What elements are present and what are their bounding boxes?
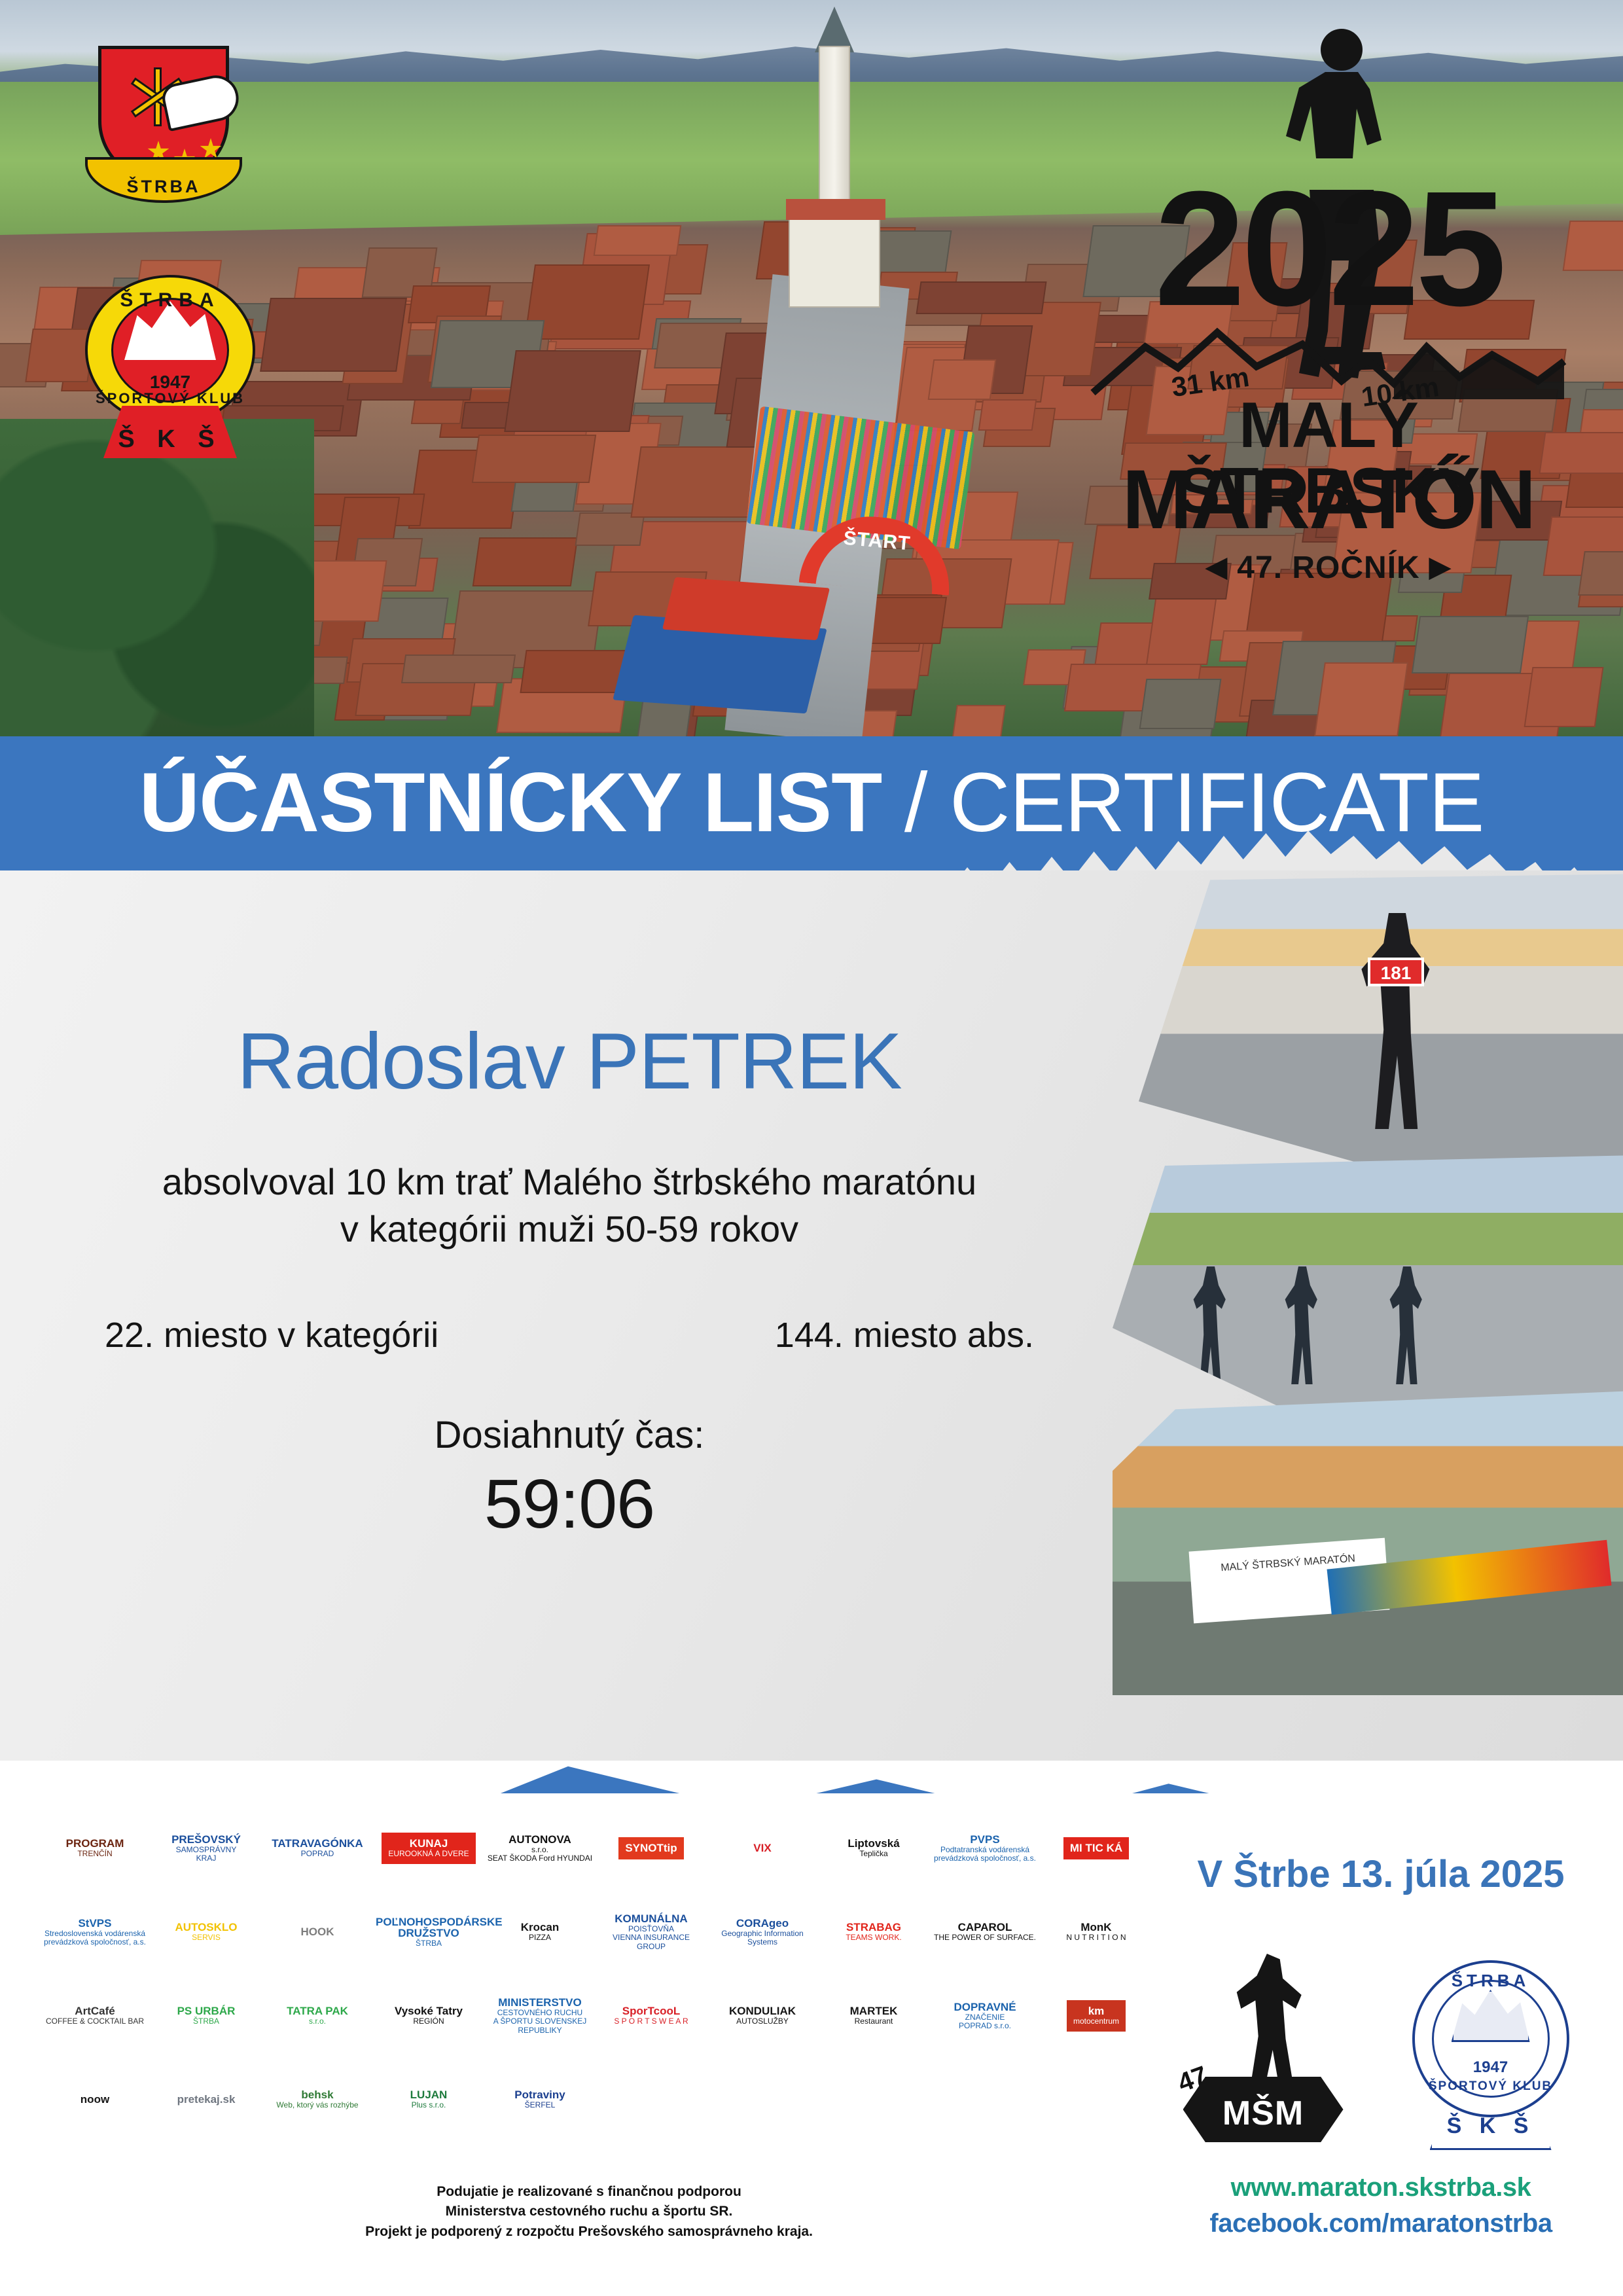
sponsor-logo: pretekaj.sk bbox=[151, 2058, 262, 2142]
sponsor-logo-text: N U T R I T I O N bbox=[1066, 1933, 1126, 1942]
sponsor-logo: MINISTERSTVOCESTOVNÉHO RUCHUA ŠPORTU SLO… bbox=[484, 1974, 596, 2058]
arrow-right-icon: ▶ bbox=[1429, 551, 1451, 582]
sponsor-logo-text: prevádzková spoločnosť, a.s. bbox=[934, 1854, 1036, 1863]
photo-runners-road bbox=[1113, 1155, 1623, 1417]
event-edition: ◀ 47. ROČNÍK ▶ bbox=[1080, 550, 1577, 586]
sponsor-logo-text: s.r.o. bbox=[287, 2017, 348, 2026]
sponsor-logo-text: Web, ktorý vás rozhýbe bbox=[276, 2101, 358, 2109]
sponsor-logo-text: Vysoké Tatry bbox=[395, 2005, 463, 2017]
sponsor-logo-text: MINISTERSTVO bbox=[487, 1997, 593, 2009]
sponsor-logo-text: CORAgeo bbox=[709, 1918, 815, 1929]
sponsor-logo: POĽNOHOSPODÁRSKE DRUŽSTVOŠTRBA bbox=[373, 1890, 484, 1974]
website-link[interactable]: www.maraton.skstrba.sk bbox=[1152, 2173, 1610, 2202]
club-base-shape: Š K Š bbox=[103, 406, 237, 458]
finish-time-block: Dosiahnutý čas: 59:06 bbox=[0, 1413, 1139, 1544]
sponsor-logo-text: ArtCafé bbox=[46, 2005, 144, 2017]
club-bottom-label: ŠPORTOVÝ KLUB bbox=[85, 390, 255, 407]
event-year: 2025 bbox=[1080, 167, 1577, 331]
banner-title: ÚČASTNÍCKY LIST / CERTIFICATE bbox=[0, 761, 1623, 845]
msm-mark: 47. MŠM bbox=[1177, 1954, 1347, 2150]
strba-coat-of-arms: ŠTRBA bbox=[85, 46, 242, 242]
description-line-1: absolvoval 10 km trať Malého štrbského m… bbox=[0, 1158, 1139, 1206]
runner-silhouette bbox=[1283, 1266, 1322, 1384]
sponsor-logo-text: PS URBÁR bbox=[177, 2005, 236, 2017]
participant-name: Radoslav PETREK bbox=[0, 1021, 1139, 1101]
sponsor-logo-text: TEAMS WORK. bbox=[846, 1933, 901, 1942]
sponsor-logo-text: EUROOKNÁ A DVERE bbox=[388, 1850, 469, 1858]
msm-acronym-label: MŠM bbox=[1183, 2094, 1344, 2133]
sponsor-logo-text: VIX bbox=[753, 1842, 771, 1854]
sponsor-logo: MonKN U T R I T I O N bbox=[1041, 1890, 1152, 1974]
sponsor-logo: ArtCaféCOFFEE & COCKTAIL BAR bbox=[39, 1974, 151, 2058]
sponsor-logo-text: MARTEK bbox=[850, 2005, 898, 2017]
sponsor-logo: CORAgeoGeographic Information Systems bbox=[707, 1890, 818, 1974]
banner-title-sk: ÚČASTNÍCKY LIST bbox=[139, 756, 882, 850]
msm-diamond-shape: MŠM bbox=[1183, 2077, 1344, 2142]
sponsor-logo-text: THE POWER OF SURFACE. bbox=[934, 1933, 1036, 1942]
sponsor-logo-text: PIZZA bbox=[521, 1933, 560, 1942]
disclaimer-line-2: Ministerstva cestovného ruchu a športu S… bbox=[39, 2202, 1139, 2221]
sponsor-logo-text: CAPAROL bbox=[934, 1922, 1036, 1933]
sponsor-logo-text: prevádzková spoločnosť, a.s. bbox=[44, 1938, 146, 1946]
placement-row: 22. miesto v kategórii 144. miesto abs. bbox=[0, 1315, 1139, 1355]
sponsor-logo-text: HOOK bbox=[301, 1926, 334, 1938]
sponsor-logo-text: Liptovská bbox=[847, 1838, 899, 1850]
sponsor-logo-text: COFFEE & COCKTAIL BAR bbox=[46, 2017, 144, 2026]
runner-silhouette bbox=[1191, 1266, 1230, 1384]
sponsor-logo-text: A ŠPORTU SLOVENSKEJ REPUBLIKY bbox=[487, 2017, 593, 2034]
sponsor-logo: LiptovskáTeplička bbox=[818, 1806, 929, 1890]
place-absolute: 144. miesto abs. bbox=[775, 1315, 1034, 1355]
event-date: V Štrbe 13. júla 2025 bbox=[1152, 1852, 1610, 1896]
sponsor-logo-text: ŠTRBA bbox=[177, 2017, 236, 2026]
sponsor-logo: PotravinyŠERFEL bbox=[484, 2058, 596, 2142]
trees bbox=[0, 419, 314, 736]
sponsor-logo-text: PVPS bbox=[934, 1834, 1036, 1846]
sponsor-logo-text: behsk bbox=[276, 2089, 358, 2101]
sponsor-logo: KOMUNÁLNAPOISŤOVŇAVIENNA INSURANCE GROUP bbox=[596, 1890, 707, 1974]
sponsor-logo: StVPSStredoslovenská vodárenskáprevádzko… bbox=[39, 1890, 151, 1974]
certificate-page: ŠTART ŠTRBA ŠTRBA 1947 ŠPORTOVÝ KLUB Š K… bbox=[0, 0, 1623, 2296]
funding-disclaimer: Podujatie je realizované s finančnou pod… bbox=[39, 2182, 1139, 2242]
sponsor-logo-text: km bbox=[1073, 2005, 1119, 2017]
footer-right-column: V Štrbe 13. júla 2025 47. MŠM ŠTRBA 1947… bbox=[1152, 1806, 1610, 2291]
certificate-text-block: Radoslav PETREK absolvoval 10 km trať Ma… bbox=[0, 1021, 1139, 1544]
sponsor-logo-text: pretekaj.sk bbox=[177, 2094, 236, 2106]
sponsor-logo: behskWeb, ktorý vás rozhýbe bbox=[262, 2058, 373, 2142]
sponsor-logo-text: TRENČÍN bbox=[66, 1850, 124, 1858]
description-line-2: v kategórii muži 50-59 rokov bbox=[0, 1206, 1139, 1253]
banner-title-en: CERTIFICATE bbox=[950, 756, 1484, 850]
sponsor-logo: HOOK bbox=[262, 1890, 373, 1974]
sponsor-logo-text: Podtatranská vodárenská bbox=[934, 1846, 1036, 1854]
sponsor-logo-text: motocentrum bbox=[1073, 2017, 1119, 2026]
finish-time-label: Dosiahnutý čas: bbox=[0, 1413, 1139, 1457]
sponsor-logo-text: TATRAVAGÓNKA bbox=[272, 1838, 363, 1850]
certificate-description: absolvoval 10 km trať Malého štrbského m… bbox=[0, 1158, 1139, 1252]
sponsor-logo-text: Teplička bbox=[847, 1850, 899, 1858]
sponsor-logo: LUJANPlus s.r.o. bbox=[373, 2058, 484, 2142]
sponsor-logo-text: SporTcooL bbox=[614, 2005, 688, 2017]
club-base-label: Š K Š bbox=[103, 425, 237, 454]
finish-time-value: 59:06 bbox=[0, 1465, 1139, 1544]
event-logo: 2025 31 km 10 km MALÝ ŠTRBSKÝ MARATÓN ◀ … bbox=[1080, 26, 1577, 602]
sponsor-logo: KUNAJEUROOKNÁ A DVERE bbox=[373, 1806, 484, 1890]
sponsor-logo-text: PREŠOVSKÝ bbox=[171, 1834, 241, 1846]
sponsor-logo-text: SERVIS bbox=[175, 1933, 237, 1942]
sponsor-logo: kmmotocentrum bbox=[1041, 1974, 1152, 2058]
disclaimer-line-3: Projekt je podporený z rozpočtu Prešovsk… bbox=[39, 2222, 1139, 2242]
disclaimer-line-1: Podujatie je realizované s finančnou pod… bbox=[39, 2182, 1139, 2202]
sponsor-logo-text: AUTOSLUŽBY bbox=[729, 2017, 796, 2026]
sponsor-logo-text: Krocan bbox=[521, 1922, 560, 1933]
sponsor-logo-text: KONDULIAK bbox=[729, 2005, 796, 2017]
sponsor-logo-text: Potraviny bbox=[514, 2089, 565, 2101]
sponsor-logo: MI TIC KÁ bbox=[1041, 1806, 1152, 1890]
sponsor-logo-text: noow bbox=[80, 2094, 109, 2106]
sks-club-logo: ŠTRBA 1947 ŠPORTOVÝ KLUB Š K Š bbox=[85, 262, 255, 458]
sponsor-logo: TATRAVAGÓNKAPOPRAD bbox=[262, 1806, 373, 1890]
coa-municipality-label: ŠTRBA bbox=[88, 177, 240, 197]
sponsor-logo: KONDULIAKAUTOSLUŽBY bbox=[707, 1974, 818, 2058]
sponsor-logo-text: ZNAČENIE bbox=[954, 2013, 1016, 2022]
coa-ribbon: ŠTRBA bbox=[85, 157, 242, 203]
sponsor-logo-text: SAMOSPRÁVNY bbox=[171, 1846, 241, 1854]
woman-runner-silhouette bbox=[1355, 913, 1440, 1129]
sponsor-logo-text: STRABAG bbox=[846, 1922, 901, 1933]
stamp-bottom-label: ŠPORTOVÝ KLUB bbox=[1396, 2079, 1586, 2094]
sponsor-logo-text: KOMUNÁLNA bbox=[598, 1913, 704, 1925]
photo-finish-line: MALÝ ŠTRBSKÝ MARATÓN bbox=[1113, 1391, 1623, 1695]
sponsor-logo: Vysoké TatryREGIÓN bbox=[373, 1974, 484, 2058]
sponsor-logo-text: ŠERFEL bbox=[514, 2101, 565, 2109]
banner-title-separator: / bbox=[882, 756, 950, 850]
sponsor-logo: SporTcooLS P O R T S W E A R bbox=[596, 1974, 707, 2058]
sponsor-logo-text: PROGRAM bbox=[66, 1838, 124, 1850]
sponsor-logo: PROGRAMTRENČÍN bbox=[39, 1806, 151, 1890]
sponsor-logo-text: VIENNA INSURANCE GROUP bbox=[598, 1933, 704, 1950]
sponsor-logo: PREŠOVSKÝSAMOSPRÁVNYKRAJ bbox=[151, 1806, 262, 1890]
sponsor-logo-text: MI TIC KÁ bbox=[1070, 1842, 1122, 1854]
sponsor-logo-text: TATRA PAK bbox=[287, 2005, 348, 2017]
sponsor-logo-text: SYNOTtip bbox=[625, 1842, 677, 1854]
stamp-year-label: 1947 bbox=[1396, 2058, 1586, 2077]
sponsor-logo: VIX bbox=[707, 1806, 818, 1890]
sponsor-logo: AUTOSKLOSERVIS bbox=[151, 1890, 262, 1974]
sponsor-logo: PVPSPodtatranská vodárenskáprevádzková s… bbox=[929, 1806, 1041, 1890]
sponsor-logo-text: POPRAD bbox=[272, 1850, 363, 1858]
sponsor-logo-text: Restaurant bbox=[850, 2017, 898, 2026]
photo-collage: 181 MALÝ ŠTRBSKÝ MARATÓN bbox=[1113, 874, 1623, 1695]
runner-silhouette bbox=[1387, 1266, 1427, 1384]
sponsor-logo-text: S P O R T S W E A R bbox=[614, 2017, 688, 2026]
sponsor-logo: TATRA PAKs.r.o. bbox=[262, 1974, 373, 2058]
red-tent bbox=[662, 577, 830, 641]
bib-number-181: 181 bbox=[1368, 958, 1424, 986]
photo-finisher-woman: 181 bbox=[1139, 874, 1623, 1181]
facebook-link[interactable]: facebook.com/maratonstrba bbox=[1152, 2209, 1610, 2238]
sponsor-logo: STRABAGTEAMS WORK. bbox=[818, 1890, 929, 1974]
sponsor-logo-text: POĽNOHOSPODÁRSKE DRUŽSTVO bbox=[376, 1916, 482, 1940]
church-nave bbox=[789, 216, 880, 308]
sponsor-logo: KrocanPIZZA bbox=[484, 1890, 596, 1974]
sponsor-logo: DOPRAVNÉZNAČENIEPOPRAD s.r.o. bbox=[929, 1974, 1041, 2058]
sponsor-logo: noow bbox=[39, 2058, 151, 2142]
sponsor-logo-text: Stredoslovenská vodárenská bbox=[44, 1929, 146, 1938]
sks-stamp-mark: ŠTRBA 1947 ŠPORTOVÝ KLUB Š K Š bbox=[1396, 1954, 1586, 2150]
sponsor-logo-text: KRAJ bbox=[171, 1854, 241, 1863]
event-edition-label: 47. ROČNÍK bbox=[1237, 550, 1419, 585]
sponsor-logo-text: AUTOSKLO bbox=[175, 1922, 237, 1933]
church-building bbox=[795, 20, 874, 301]
arrow-left-icon: ◀ bbox=[1206, 551, 1228, 582]
sponsor-logo-text: MonK bbox=[1066, 1922, 1126, 1933]
sponsor-logo-text: ŠTRBA bbox=[376, 1939, 482, 1948]
sponsor-logo-text: SEAT ŠKODA Ford HYUNDAI bbox=[488, 1854, 592, 1863]
sponsor-logo-text: StVPS bbox=[44, 1918, 146, 1929]
sponsor-logo-text: DOPRAVNÉ bbox=[954, 2001, 1016, 2013]
sponsor-logo-text: LUJAN bbox=[410, 2089, 448, 2101]
sponsor-logo: SYNOTtip bbox=[596, 1806, 707, 1890]
sponsor-logo-text: KUNAJ bbox=[388, 1838, 469, 1850]
place-in-category: 22. miesto v kategórii bbox=[105, 1315, 438, 1355]
club-top-label: ŠTRBA bbox=[85, 289, 255, 312]
sponsor-logo-text: s.r.o. bbox=[488, 1846, 592, 1854]
stamp-top-label: ŠTRBA bbox=[1396, 1971, 1586, 1991]
sponsor-logo: CAPAROLTHE POWER OF SURFACE. bbox=[929, 1890, 1041, 1974]
sponsor-logo-text: AUTONOVA bbox=[488, 1834, 592, 1846]
sponsor-logo: MARTEKRestaurant bbox=[818, 1974, 929, 2058]
sponsor-logo-text: POPRAD s.r.o. bbox=[954, 2022, 1016, 2030]
event-title-line2: MARATÓN bbox=[1080, 458, 1577, 542]
sponsor-logo-text: REGIÓN bbox=[395, 2017, 463, 2026]
runner-mark-icon bbox=[1236, 1954, 1308, 2091]
sponsor-logo: AUTONOVAs.r.o.SEAT ŠKODA Ford HYUNDAI bbox=[484, 1806, 596, 1890]
sponsor-logo: PS URBÁRŠTRBA bbox=[151, 1974, 262, 2058]
sponsor-logo-text: Geographic Information Systems bbox=[709, 1929, 815, 1946]
organizer-marks: 47. MŠM ŠTRBA 1947 ŠPORTOVÝ KLUB Š K Š bbox=[1152, 1944, 1610, 2160]
sponsor-logo-text: Plus s.r.o. bbox=[410, 2101, 448, 2109]
stamp-base-label: Š K Š bbox=[1396, 2113, 1586, 2139]
